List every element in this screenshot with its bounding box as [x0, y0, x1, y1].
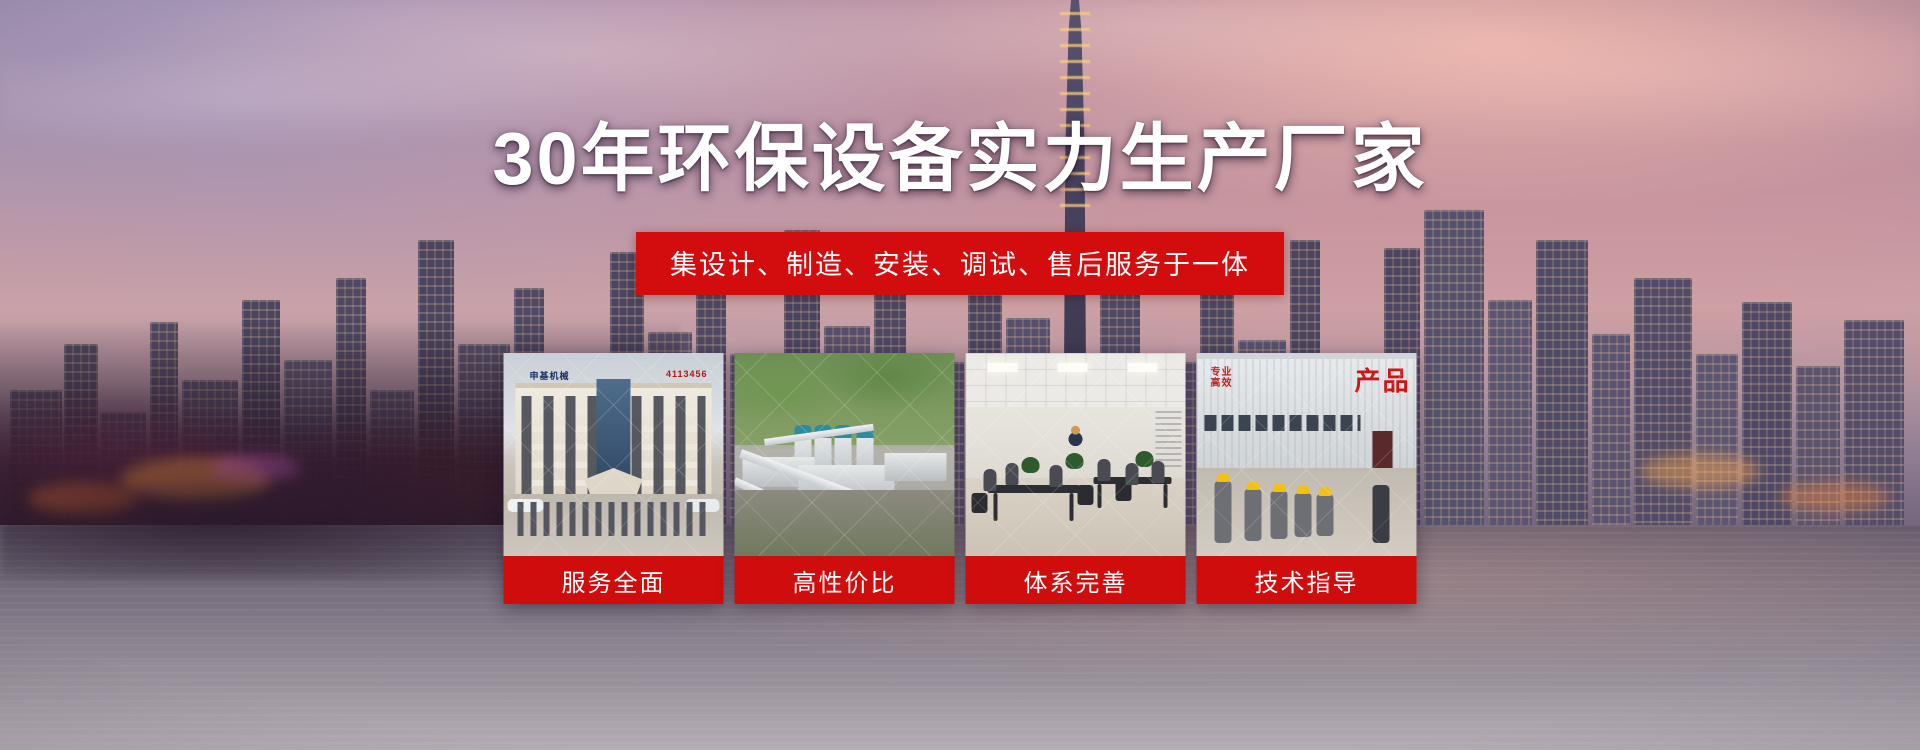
feature-card-list: 申基机械 4113456 服务全面: [504, 353, 1417, 604]
card-photo-office-interior: [966, 353, 1186, 556]
card-photo-aerial-plant: [735, 353, 955, 556]
factory-slogan-text: 专业 高效: [1211, 367, 1233, 389]
card-caption: 体系完善: [966, 556, 1186, 604]
card-caption: 服务全面: [504, 556, 724, 604]
page-title: 30年环保设备实力生产厂家: [0, 99, 1920, 206]
feature-card[interactable]: 申基机械 4113456 服务全面: [504, 353, 724, 604]
subtitle-banner: 集设计、制造、安装、调试、售后服务于一体: [636, 232, 1284, 295]
feature-card[interactable]: 体系完善: [966, 353, 1186, 604]
building-phone-text: 4113456: [666, 369, 708, 379]
building-sign-text: 申基机械: [530, 369, 570, 382]
hero-banner: 30年环保设备实力生产厂家 集设计、制造、安装、调试、售后服务于一体 申基机械 …: [0, 0, 1920, 750]
card-photo-workers: 专业 高效 产品: [1197, 353, 1417, 556]
factory-sign-text: 产品: [1354, 361, 1410, 398]
feature-card[interactable]: 高性价比: [735, 353, 955, 604]
card-caption: 技术指导: [1197, 556, 1417, 604]
card-caption: 高性价比: [735, 556, 955, 604]
card-photo-office-building: 申基机械 4113456: [504, 353, 724, 556]
feature-card[interactable]: 专业 高效 产品 技术指导: [1197, 353, 1417, 604]
